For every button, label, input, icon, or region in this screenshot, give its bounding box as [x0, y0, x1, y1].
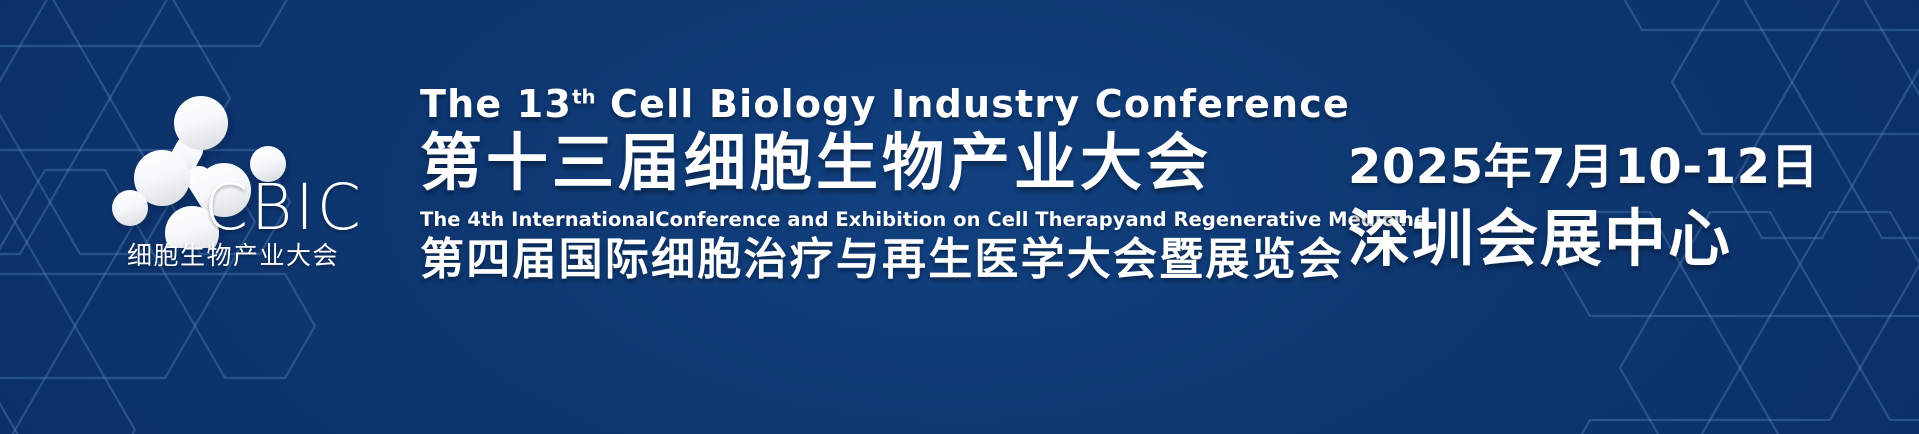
title-english-suffix: Cell Biology Industry Conference	[596, 82, 1350, 126]
conference-banner: CBIC 细胞生物产业大会 The 13th Cell Biology Indu…	[0, 0, 1919, 434]
logo-acronym: CBIC	[204, 176, 364, 239]
logo-chinese-name: 细胞生物产业大会	[110, 236, 356, 272]
cbic-logo: CBIC 细胞生物产业大会	[108, 88, 358, 288]
event-info: 2025年7月10-12日 深圳会展中心	[1348, 140, 1768, 273]
conference-titles: The 13th Cell Biology Industry Conferenc…	[420, 84, 1080, 284]
title-ordinal-suffix: th	[572, 85, 596, 108]
event-venue: 深圳会展中心	[1348, 205, 1768, 273]
title-english-prefix: The 13	[420, 82, 572, 126]
subtitle-chinese: 第四届国际细胞治疗与再生医学大会暨展览会	[420, 235, 1080, 284]
title-chinese: 第十三届细胞生物产业大会	[420, 128, 1080, 197]
event-date: 2025年7月10-12日	[1348, 140, 1768, 195]
title-english: The 13th Cell Biology Industry Conferenc…	[420, 84, 1080, 124]
subtitle-english: The 4th InternationalConference and Exhi…	[420, 209, 1080, 230]
